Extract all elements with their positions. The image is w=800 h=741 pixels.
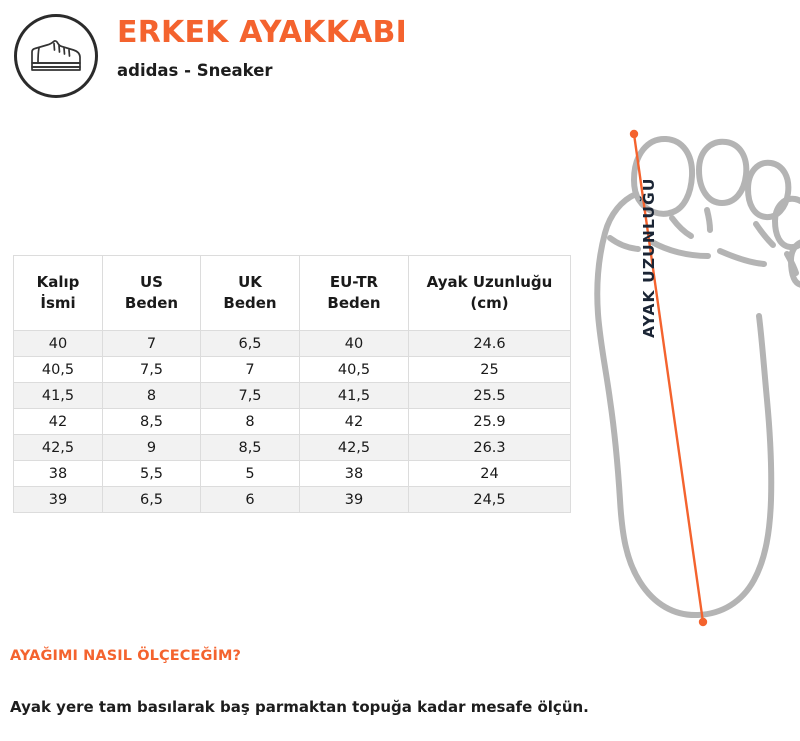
cell-eu-tr-beden: 40: [300, 331, 409, 357]
cell-eu-tr-beden: 42: [300, 409, 409, 435]
column-header-line2: Beden: [223, 294, 276, 312]
cell-kalip-ismi: 40,5: [14, 357, 103, 383]
cell-us-beden: 8: [103, 383, 201, 409]
cell-uk-beden: 7: [201, 357, 300, 383]
cell-kalip-ismi: 38: [14, 461, 103, 487]
table-row: 38 5,5 5 38 24: [14, 461, 571, 487]
column-header-uk-beden: UK Beden: [201, 256, 300, 331]
cell-uk-beden: 5: [201, 461, 300, 487]
table-row: 42 8,5 8 42 25.9: [14, 409, 571, 435]
cell-us-beden: 9: [103, 435, 201, 461]
table-row: 39 6,5 6 39 24,5: [14, 487, 571, 513]
cell-ayak-uzunlugu: 25.5: [409, 383, 571, 409]
page-title: ERKEK AYAKKABI: [117, 16, 677, 50]
table-row: 40,5 7,5 7 40,5 25: [14, 357, 571, 383]
table-row: 41,5 8 7,5 41,5 25.5: [14, 383, 571, 409]
cell-uk-beden: 6,5: [201, 331, 300, 357]
cell-ayak-uzunlugu: 24: [409, 461, 571, 487]
cell-uk-beden: 7,5: [201, 383, 300, 409]
brand-logo-badge: [14, 14, 98, 98]
column-header-line1: EU-TR: [330, 273, 378, 291]
table-row: 42,5 9 8,5 42,5 26.3: [14, 435, 571, 461]
size-chart-table: Kalıp İsmi US Beden UK Beden EU-TR Beden…: [13, 255, 571, 513]
column-header-line1: Ayak Uzunluğu: [427, 273, 553, 291]
column-header-us-beden: US Beden: [103, 256, 201, 331]
cell-kalip-ismi: 39: [14, 487, 103, 513]
cell-eu-tr-beden: 42,5: [300, 435, 409, 461]
column-header-line2: Beden: [125, 294, 178, 312]
cell-ayak-uzunlugu: 24,5: [409, 487, 571, 513]
cell-ayak-uzunlugu: 24.6: [409, 331, 571, 357]
cell-eu-tr-beden: 39: [300, 487, 409, 513]
foot-length-label: AYAK UZUNLUĞU: [640, 98, 658, 338]
how-to-measure-note: Ayak yere tam basılarak baş parmaktan to…: [10, 698, 589, 716]
table-header-row: Kalıp İsmi US Beden UK Beden EU-TR Beden…: [14, 256, 571, 331]
table-body: 40 7 6,5 40 24.6 40,5 7,5 7 40,5 25 41,5…: [14, 331, 571, 513]
cell-kalip-ismi: 40: [14, 331, 103, 357]
cell-uk-beden: 8: [201, 409, 300, 435]
cell-kalip-ismi: 42,5: [14, 435, 103, 461]
table-row: 40 7 6,5 40 24.6: [14, 331, 571, 357]
cell-uk-beden: 6: [201, 487, 300, 513]
how-to-measure-heading: AYAĞIMI NASIL ÖLÇECEĞİM?: [10, 648, 241, 664]
column-header-kalip-ismi: Kalıp İsmi: [14, 256, 103, 331]
column-header-line2: Beden: [327, 294, 380, 312]
foot-measurement-diagram: [560, 118, 800, 638]
cell-us-beden: 6,5: [103, 487, 201, 513]
cell-ayak-uzunlugu: 26.3: [409, 435, 571, 461]
column-header-eu-tr-beden: EU-TR Beden: [300, 256, 409, 331]
table-header: Kalıp İsmi US Beden UK Beden EU-TR Beden…: [14, 256, 571, 331]
cell-ayak-uzunlugu: 25: [409, 357, 571, 383]
cell-uk-beden: 8,5: [201, 435, 300, 461]
page-subtitle: adidas - Sneaker: [117, 61, 677, 81]
cell-us-beden: 7: [103, 331, 201, 357]
cell-eu-tr-beden: 41,5: [300, 383, 409, 409]
column-header-line1: US: [140, 273, 163, 291]
cell-us-beden: 5,5: [103, 461, 201, 487]
cell-kalip-ismi: 41,5: [14, 383, 103, 409]
title-block: ERKEK AYAKKABI adidas - Sneaker: [117, 16, 677, 80]
cell-eu-tr-beden: 40,5: [300, 357, 409, 383]
cell-us-beden: 7,5: [103, 357, 201, 383]
cell-eu-tr-beden: 38: [300, 461, 409, 487]
page-header: ERKEK AYAKKABI adidas - Sneaker: [0, 0, 800, 112]
column-header-ayak-uzunlugu: Ayak Uzunluğu (cm): [409, 256, 571, 331]
column-header-line2: (cm): [470, 294, 508, 312]
cell-kalip-ismi: 42: [14, 409, 103, 435]
column-header-line1: Kalıp: [37, 273, 80, 291]
foot-length-measure-line: [560, 118, 800, 638]
column-header-line1: UK: [238, 273, 262, 291]
column-header-line2: İsmi: [40, 294, 75, 312]
cell-ayak-uzunlugu: 25.9: [409, 409, 571, 435]
cell-us-beden: 8,5: [103, 409, 201, 435]
sneaker-shoe-icon: [27, 36, 85, 76]
